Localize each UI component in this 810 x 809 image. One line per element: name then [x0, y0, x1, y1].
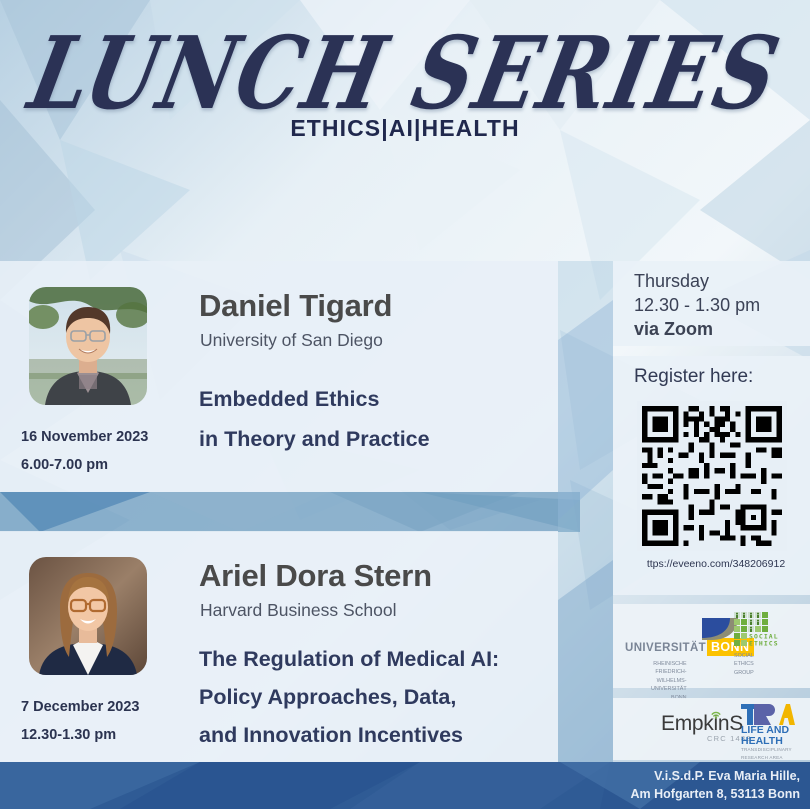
- university-wordmark: UNIVERSITÄT: [625, 642, 706, 654]
- speaker-name: Daniel Tigard: [199, 288, 392, 324]
- speaker-card: 16 November 2023 6.00-7.00 pm Daniel Tig…: [0, 261, 558, 492]
- speaker-affiliation: Harvard Business School: [200, 600, 396, 621]
- schedule-day: Thursday: [634, 271, 709, 292]
- talk-title-line: Embedded Ethics: [199, 387, 379, 412]
- talk-title-line: The Regulation of Medical AI:: [199, 647, 499, 672]
- event-time: 6.00-7.00 pm: [21, 457, 108, 473]
- wifi-signal-icon: [710, 707, 722, 725]
- speaker-affiliation: University of San Diego: [200, 330, 383, 351]
- partner-logos-row-2: EmpkinS CRC 1483: [613, 698, 810, 760]
- register-label: Register here:: [634, 366, 753, 388]
- talk-title-line: in Theory and Practice: [199, 427, 430, 452]
- register-panel: Register here:: [613, 356, 810, 595]
- partner-logos-row-1: UNIVERSITÄT BONN RHEINISCHE FRIEDRICH-WI…: [613, 604, 810, 688]
- talk-title-line: and Innovation Incentives: [199, 723, 463, 748]
- tra-tagline: LIFE AND HEALTH: [741, 725, 789, 748]
- event-date: 7 December 2023: [21, 699, 140, 715]
- svg-text:ETHICS: ETHICS: [749, 639, 779, 647]
- social-ethics-subtitle: SOCIAL ETHICS GROUP: [734, 652, 754, 677]
- page-subtitle: ETHICS|AI|HEALTH: [0, 115, 810, 142]
- avatar: [29, 287, 147, 405]
- register-url[interactable]: ttps://eveeno.com/348206912: [631, 558, 801, 570]
- qr-code-icon[interactable]: [637, 401, 787, 551]
- imprint-footer: V.i.S.d.P. Eva Maria Hille, Am Hofgarten…: [631, 767, 801, 803]
- tra-subtitle: TRANSDISCIPLINARY RESEARCH AREA: [741, 746, 792, 762]
- avatar: [29, 557, 147, 675]
- speaker-name: Ariel Dora Stern: [199, 558, 432, 594]
- university-subtitle: RHEINISCHE FRIEDRICH-WILHELMS- UNIVERSIT…: [651, 660, 687, 702]
- schedule-panel: Thursday 12.30 - 1.30 pm via Zoom: [613, 261, 810, 346]
- social-ethics-group-logo: SOCIAL ETHICS: [734, 612, 800, 655]
- poster-root: LUNCH SERIES ETHICS|AI|HEALTH: [0, 0, 810, 809]
- poster-header: LUNCH SERIES ETHICS|AI|HEALTH: [0, 0, 810, 250]
- empkins-logo: EmpkinS: [661, 712, 743, 736]
- talk-title-line: Policy Approaches, Data,: [199, 685, 456, 710]
- event-time: 12.30-1.30 pm: [21, 727, 116, 743]
- schedule-time: 12.30 - 1.30 pm: [634, 295, 760, 316]
- event-date: 16 November 2023: [21, 429, 148, 445]
- schedule-mode: via Zoom: [634, 319, 713, 340]
- speaker-card: 7 December 2023 12.30-1.30 pm Ariel Dora…: [0, 531, 558, 762]
